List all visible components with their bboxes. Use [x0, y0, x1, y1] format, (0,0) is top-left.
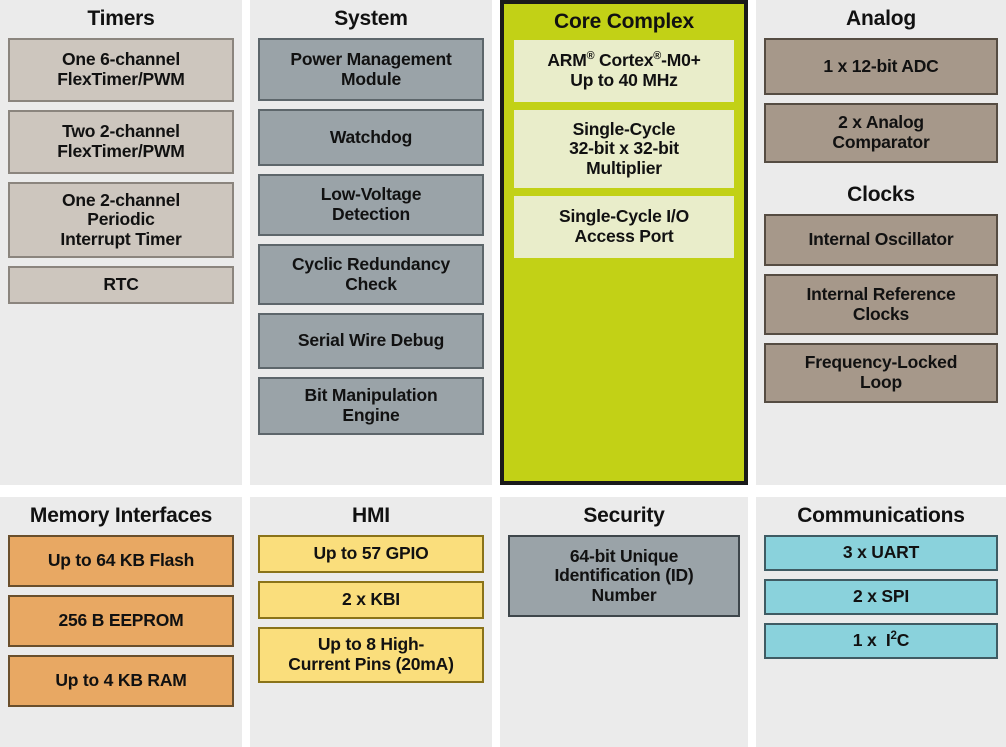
block-line: 2 x SPI: [772, 587, 990, 607]
panel-title-communications: Communications: [764, 497, 998, 535]
block-line: FlexTimer/PWM: [16, 142, 226, 162]
mcu-block-diagram: Timers One 6-channel FlexTimer/PWM Two 2…: [0, 0, 1006, 747]
block-line: ARM® Cortex®-M0+: [521, 51, 727, 71]
block-comms-1: 2 x SPI: [764, 579, 998, 615]
block-line: Internal Oscillator: [772, 230, 990, 250]
block-line: Module: [266, 70, 476, 90]
block-line: Power Management: [266, 50, 476, 70]
block-comms-0: 3 x UART: [764, 535, 998, 571]
block-line: Number: [516, 586, 732, 606]
panel-title-security: Security: [508, 497, 740, 535]
block-timers-0: One 6-channel FlexTimer/PWM: [8, 38, 234, 102]
panel-memory-interfaces: Memory Interfaces Up to 64 KB Flash 256 …: [0, 497, 242, 747]
block-memory-1: 256 B EEPROM: [8, 595, 234, 647]
block-memory-0: Up to 64 KB Flash: [8, 535, 234, 587]
block-system-5: Bit Manipulation Engine: [258, 377, 484, 435]
block-line: 1 x I2C: [772, 631, 990, 651]
block-line: Frequency-Locked: [772, 353, 990, 373]
block-line: Serial Wire Debug: [266, 331, 476, 351]
block-system-4: Serial Wire Debug: [258, 313, 484, 369]
block-line: 1 x 12-bit ADC: [772, 57, 990, 77]
block-memory-2: Up to 4 KB RAM: [8, 655, 234, 707]
block-line: Access Port: [521, 227, 727, 247]
block-hmi-1: 2 x KBI: [258, 581, 484, 619]
block-line: Bit Manipulation: [266, 386, 476, 406]
block-line: One 6-channel: [16, 50, 226, 70]
block-system-2: Low-Voltage Detection: [258, 174, 484, 236]
block-line: Single-Cycle: [521, 120, 727, 140]
panel-security: Security 64-bit Unique Identification (I…: [500, 497, 748, 747]
block-line: Up to 64 KB Flash: [16, 551, 226, 571]
block-line: Up to 4 KB RAM: [16, 671, 226, 691]
panel-title-system: System: [258, 0, 484, 38]
panel-subtitle-clocks: Clocks: [764, 171, 998, 214]
block-hmi-2: Up to 8 High- Current Pins (20mA): [258, 627, 484, 683]
block-comms-2: 1 x I2C: [764, 623, 998, 659]
block-line: 256 B EEPROM: [16, 611, 226, 631]
block-line: Up to 8 High-: [266, 635, 476, 655]
block-analog-0: 1 x 12-bit ADC: [764, 38, 998, 95]
block-analog-1: 2 x Analog Comparator: [764, 103, 998, 163]
block-system-0: Power Management Module: [258, 38, 484, 101]
panel-title-analog: Analog: [764, 0, 998, 38]
block-line: Interrupt Timer: [16, 230, 226, 250]
block-clocks-2: Frequency-Locked Loop: [764, 343, 998, 403]
block-timers-2: One 2-channel Periodic Interrupt Timer: [8, 182, 234, 258]
block-line: Cyclic Redundancy: [266, 255, 476, 275]
block-line: One 2-channel: [16, 191, 226, 211]
block-line: 3 x UART: [772, 543, 990, 563]
block-line: RTC: [16, 275, 226, 295]
block-line: 64-bit Unique: [516, 547, 732, 567]
block-line: Single-Cycle I/O: [521, 207, 727, 227]
block-system-1: Watchdog: [258, 109, 484, 166]
block-line: Internal Reference: [772, 285, 990, 305]
panel-timers: Timers One 6-channel FlexTimer/PWM Two 2…: [0, 0, 242, 485]
block-timers-3: RTC: [8, 266, 234, 304]
panel-system: System Power Management Module Watchdog …: [250, 0, 492, 485]
block-clocks-0: Internal Oscillator: [764, 214, 998, 266]
block-core-2: Single-Cycle I/O Access Port: [514, 196, 734, 258]
panel-title-memory-interfaces: Memory Interfaces: [8, 497, 234, 535]
block-line: Multiplier: [521, 159, 727, 179]
block-line: 2 x KBI: [266, 590, 476, 610]
block-core-0: ARM® Cortex®-M0+ Up to 40 MHz: [514, 40, 734, 102]
block-line: Identification (ID): [516, 566, 732, 586]
panel-core-complex: Core Complex ARM® Cortex®-M0+ Up to 40 M…: [500, 0, 748, 485]
block-line: Detection: [266, 205, 476, 225]
block-line: 32-bit x 32-bit: [521, 139, 727, 159]
block-line: Check: [266, 275, 476, 295]
block-hmi-0: Up to 57 GPIO: [258, 535, 484, 573]
block-line: Up to 57 GPIO: [266, 544, 476, 564]
block-system-3: Cyclic Redundancy Check: [258, 244, 484, 305]
panel-hmi: HMI Up to 57 GPIO 2 x KBI Up to 8 High- …: [250, 497, 492, 747]
panel-title-timers: Timers: [8, 0, 234, 38]
block-line: 2 x Analog: [772, 113, 990, 133]
block-line: Clocks: [772, 305, 990, 325]
block-line: Low-Voltage: [266, 185, 476, 205]
block-security-0: 64-bit Unique Identification (ID) Number: [508, 535, 740, 617]
block-line: Up to 40 MHz: [521, 71, 727, 91]
block-timers-1: Two 2-channel FlexTimer/PWM: [8, 110, 234, 174]
panel-title-core-complex: Core Complex: [514, 4, 734, 40]
block-line: Two 2-channel: [16, 122, 226, 142]
block-clocks-1: Internal Reference Clocks: [764, 274, 998, 335]
block-line: FlexTimer/PWM: [16, 70, 226, 90]
block-line: Engine: [266, 406, 476, 426]
block-line: Watchdog: [266, 128, 476, 148]
panel-title-hmi: HMI: [258, 497, 484, 535]
block-line: Loop: [772, 373, 990, 393]
block-line: Current Pins (20mA): [266, 655, 476, 675]
panel-analog: Analog 1 x 12-bit ADC 2 x Analog Compara…: [756, 0, 1006, 485]
block-core-1: Single-Cycle 32-bit x 32-bit Multiplier: [514, 110, 734, 188]
panel-communications: Communications 3 x UART 2 x SPI 1 x I2C: [756, 497, 1006, 747]
block-line: Comparator: [772, 133, 990, 153]
block-line: Periodic: [16, 210, 226, 230]
